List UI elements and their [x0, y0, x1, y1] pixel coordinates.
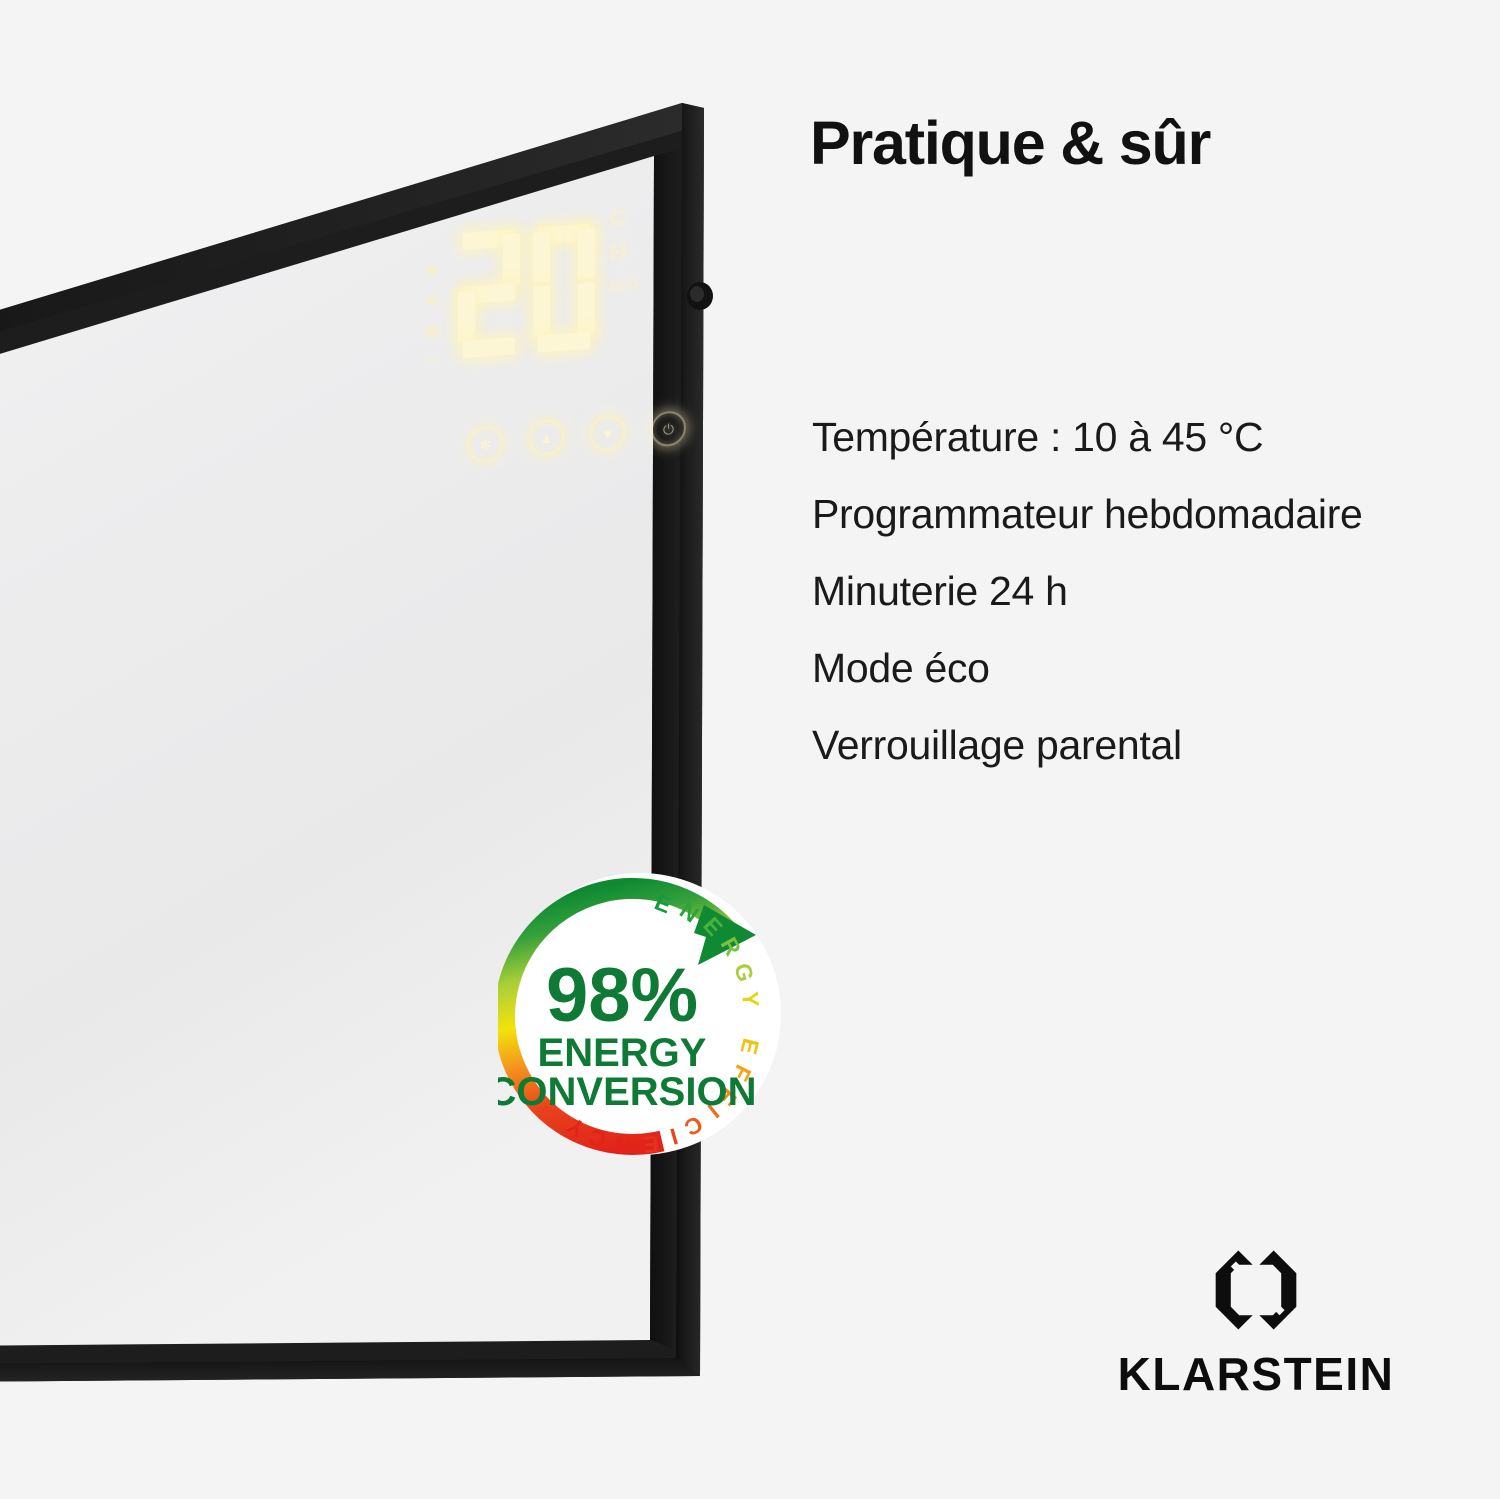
product-image: ▼ ✵ ◉ ⎓: [0, 0, 800, 1499]
panel-inner-right-edge: [650, 150, 676, 1348]
feature-item-eco-mode: Mode éco: [812, 643, 1412, 693]
brand-logo: KLARSTEIN: [1122, 1248, 1390, 1401]
feature-list: Température : 10 à 45 °C Programmateur h…: [812, 412, 1412, 770]
brand-name: KLARSTEIN: [1118, 1347, 1395, 1401]
feature-item-child-lock: Verrouillage parental: [812, 720, 1412, 770]
feature-item-timer: Minuterie 24 h: [812, 566, 1412, 616]
panel-heating-surface: [0, 156, 654, 1346]
page-title: Pratique & sûr: [810, 108, 1210, 178]
product-marketing-slide: ▼ ✵ ◉ ⎓: [0, 0, 1500, 1499]
feature-item-temperature: Température : 10 à 45 °C: [812, 412, 1412, 462]
wall-mount-knob: [687, 282, 713, 310]
feature-item-weekly-programmer: Programmateur hebdomadaire: [812, 489, 1412, 539]
heating-panel-illustration: [0, 0, 800, 1499]
klarstein-octagon-logo: [1214, 1248, 1298, 1332]
